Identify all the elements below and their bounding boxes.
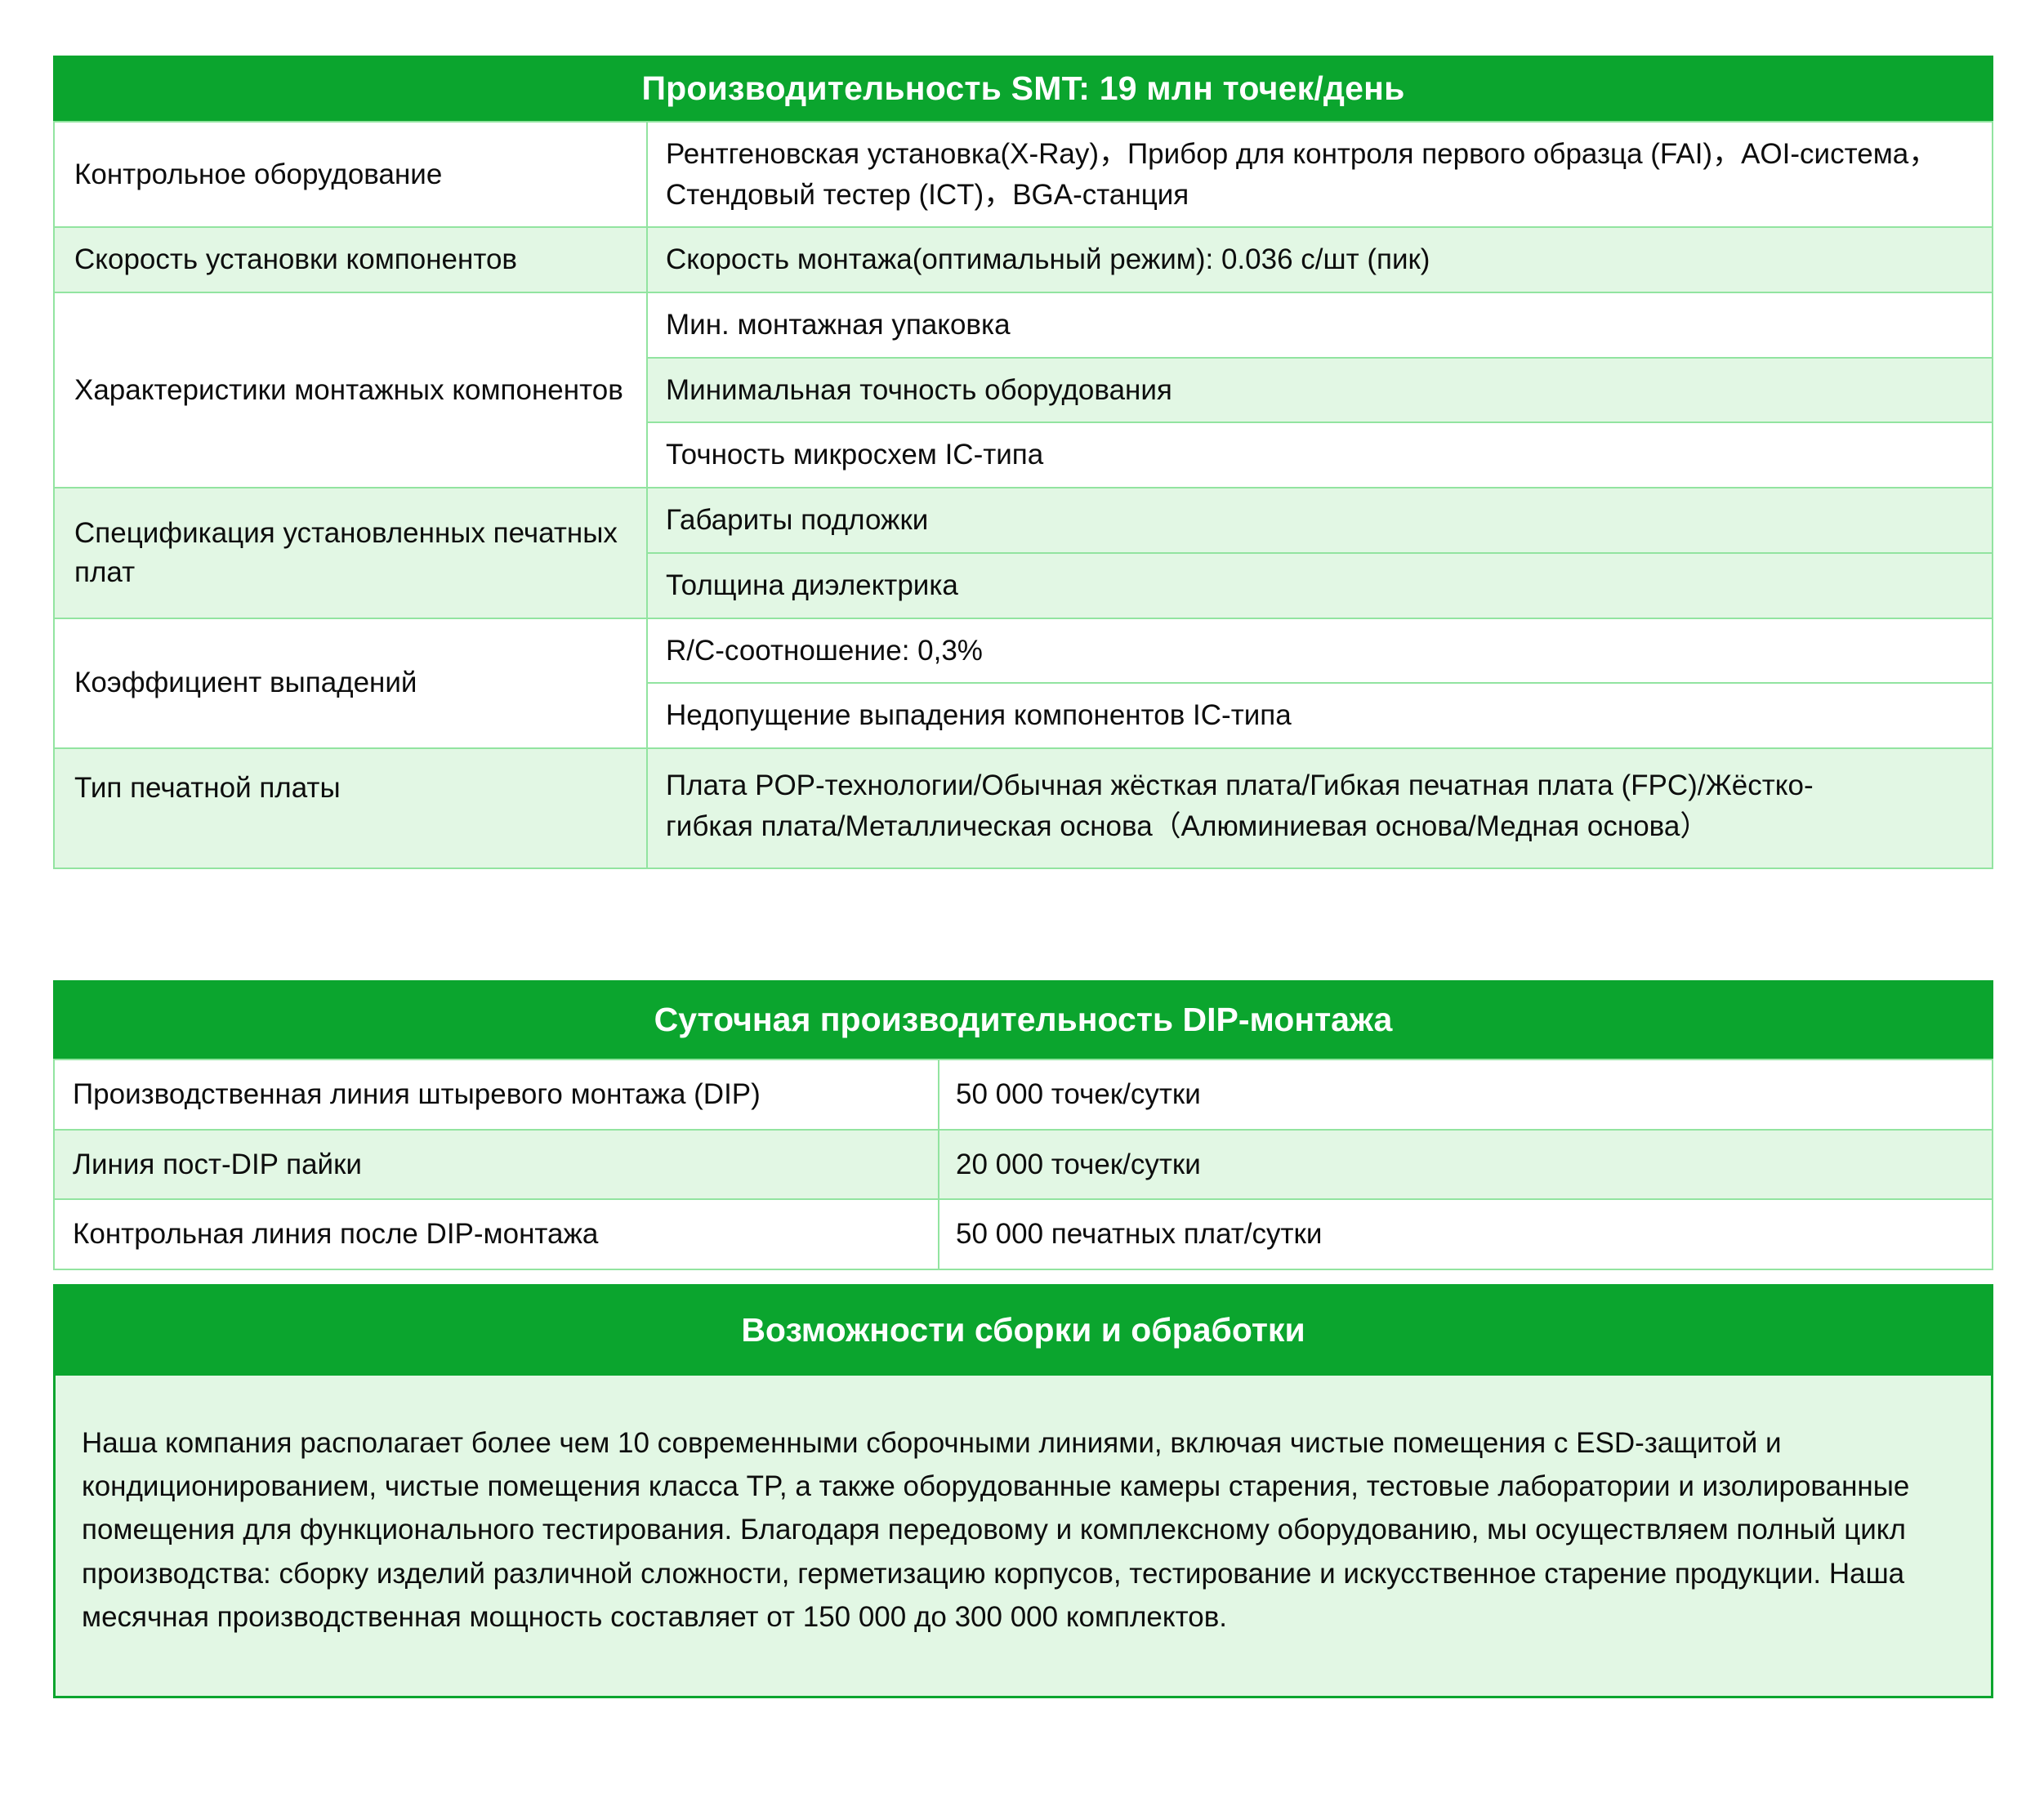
row-key: Характеристики монтажных компонентов xyxy=(54,292,647,488)
table-row: Скорость установки компонентов Скорость … xyxy=(54,227,1993,292)
row-value: Мин. монтажная упаковка xyxy=(647,292,1993,358)
row-key: Спецификация установленных печатных плат xyxy=(54,488,647,618)
capabilities-paragraph: Наша компания располагает более чем 10 с… xyxy=(82,1421,1958,1639)
dip-panel-title: Суточная производительность DIP-монтажа xyxy=(53,980,1993,1059)
row-value: Толщина диэлектрика xyxy=(647,553,1993,618)
row-value: Габариты подложки xyxy=(647,488,1993,553)
row-value: 20 000 точек/сутки xyxy=(939,1130,1993,1200)
smt-capacity-panel: Производительность SMT: 19 млн точек/ден… xyxy=(53,56,1993,869)
row-key: Коэффициент выпадений xyxy=(54,618,647,748)
smt-capacity-table: Контрольное оборудование Рентгеновская у… xyxy=(53,121,1993,869)
table-row: Линия пост-DIP пайки 20 000 точек/сутки xyxy=(54,1130,1993,1200)
capabilities-body: Наша компания располагает более чем 10 с… xyxy=(53,1376,1993,1698)
table-row: Коэффициент выпадений R/C-соотношение: 0… xyxy=(54,618,1993,684)
table-row: Тип печатной платы Плата POP-технологии/… xyxy=(54,748,1993,868)
row-key: Тип печатной платы xyxy=(54,748,647,868)
row-value: Точность микросхем IC-типа xyxy=(647,422,1993,488)
table-row: Характеристики монтажных компонентов Мин… xyxy=(54,292,1993,358)
dip-capacity-panel: Суточная производительность DIP-монтажа … xyxy=(53,980,1993,1270)
row-value: Недопущение выпадения компонентов IC-тип… xyxy=(647,683,1993,748)
row-value: Скорость монтажа(оптимальный режим): 0.0… xyxy=(647,227,1993,292)
table-row: Спецификация установленных печатных плат… xyxy=(54,488,1993,553)
capabilities-panel-title: Возможности сборки и обработки xyxy=(53,1284,1993,1376)
row-key: Контрольное оборудование xyxy=(54,122,647,227)
spec-sheet-page: Производительность SMT: 19 млн точек/ден… xyxy=(0,0,2044,1811)
row-key: Производственная линия штыревого монтажа… xyxy=(54,1059,939,1130)
row-value: Минимальная точность оборудования xyxy=(647,358,1993,423)
row-value: Рентгеновская установка(X-Ray)，Прибор дл… xyxy=(647,122,1993,227)
row-key: Контрольная линия после DIP-монтажа xyxy=(54,1199,939,1269)
table-row: Контрольное оборудование Рентгеновская у… xyxy=(54,122,1993,227)
row-key: Линия пост-DIP пайки xyxy=(54,1130,939,1200)
row-value: 50 000 печатных плат/сутки xyxy=(939,1199,1993,1269)
row-value: Плата POP-технологии/Обычная жёсткая пла… xyxy=(647,748,1993,868)
dip-capacity-table: Производственная линия штыревого монтажа… xyxy=(53,1059,1993,1270)
row-value: R/C-соотношение: 0,3% xyxy=(647,618,1993,684)
row-key: Скорость установки компонентов xyxy=(54,227,647,292)
table-row: Контрольная линия после DIP-монтажа 50 0… xyxy=(54,1199,1993,1269)
table-row: Производственная линия штыревого монтажа… xyxy=(54,1059,1993,1130)
row-value: 50 000 точек/сутки xyxy=(939,1059,1993,1130)
smt-panel-title: Производительность SMT: 19 млн точек/ден… xyxy=(53,56,1993,121)
capabilities-panel: Возможности сборки и обработки Наша комп… xyxy=(53,1284,1993,1698)
